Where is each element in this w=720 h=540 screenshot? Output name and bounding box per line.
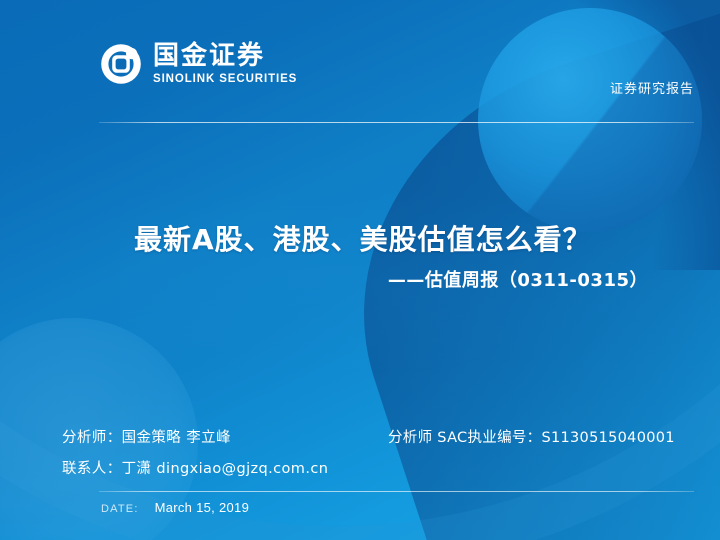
slide-content: 国金证券 SINOLINK SECURITIES 证券研究报告 最新A股、港股、… (0, 0, 720, 540)
presentation-cover-slide: 国金证券 SINOLINK SECURITIES 证券研究报告 最新A股、港股、… (0, 0, 720, 540)
brand-name-cn: 国金证券 (153, 43, 297, 69)
header-divider (99, 122, 694, 123)
date-label: DATE: (101, 503, 139, 515)
date-row: DATE: March 15, 2019 (101, 500, 249, 515)
date-value: March 15, 2019 (155, 500, 250, 515)
report-kind-label: 证券研究报告 (610, 78, 694, 97)
sinolink-logo-mark-icon (99, 42, 143, 86)
contact-line: 联系人：丁潇 dingxiao@gjzq.com.cn (62, 457, 328, 478)
slide-title: 最新A股、港股、美股估值怎么看？ (134, 218, 592, 258)
footer-divider (99, 491, 694, 492)
slide-subtitle: ——估值周报（0311-0315） (388, 266, 648, 292)
analyst-line: 分析师：国金策略 李立峰 (62, 426, 231, 447)
brand-logo: 国金证券 SINOLINK SECURITIES (99, 42, 297, 86)
brand-logo-wordmark: 国金证券 SINOLINK SECURITIES (153, 43, 297, 86)
analyst-sac-license-line: 分析师 SAC执业编号：S1130515040001 (388, 426, 675, 447)
brand-name-en: SINOLINK SECURITIES (153, 74, 297, 86)
